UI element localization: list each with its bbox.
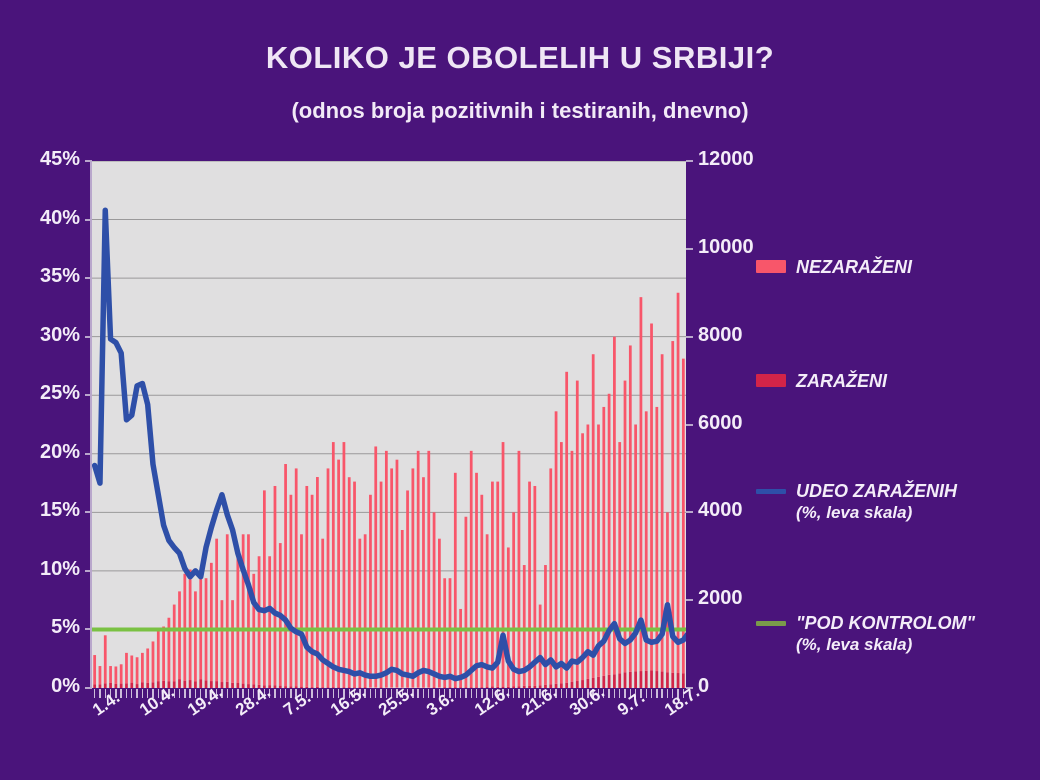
plot-svg [92,161,686,688]
bar-segment-zarazeni [141,682,144,688]
y-axis-left-tick-label: 35% [8,265,80,288]
legend-line-swatch [756,489,786,494]
bar-segment-nezarazeni [422,477,425,688]
bar-segment-nezarazeni [677,293,680,673]
bar-segment-zarazeni [279,686,282,688]
bar-segment-nezarazeni [321,539,324,688]
bar-segment-nezarazeni [125,653,128,683]
y-axis-right-tick-mark [686,599,693,601]
bar-segment-zarazeni [305,687,308,688]
bar-segment-nezarazeni [337,460,340,688]
bar-segment-nezarazeni [348,477,351,687]
bar-segment-zarazeni [343,687,346,688]
bar-segment-nezarazeni [199,572,202,680]
x-axis-tick-mark [561,689,562,698]
x-axis-tick-mark [136,689,137,698]
bar-segment-nezarazeni [332,442,335,687]
bar-segment-zarazeni [459,687,462,688]
bar-segment-nezarazeni [480,495,483,687]
bar-segment-zarazeni [629,672,632,688]
bar-segment-zarazeni [671,673,674,688]
x-axis-tick-mark [370,689,371,698]
x-axis-tick-mark [518,689,519,698]
y-axis-left-tick-label: 20% [8,441,80,464]
bar-segment-nezarazeni [274,486,277,685]
bar-segment-nezarazeni [465,517,468,688]
bar-segment-nezarazeni [327,468,330,687]
bar-segment-zarazeni [183,681,186,688]
bar-segment-nezarazeni [581,433,584,680]
y-axis-right-tick-label: 4000 [698,499,743,522]
x-axis-tick-mark [423,689,424,698]
bar-segment-zarazeni [268,685,271,688]
x-axis-tick-mark [94,689,95,698]
x-axis-tick-mark [142,689,143,698]
bar-segment-nezarazeni [221,600,224,682]
bar-segment-nezarazeni [247,534,250,684]
bar-segment-nezarazeni [93,655,96,684]
x-axis-tick-mark [428,689,429,698]
bar-segment-nezarazeni [640,297,643,671]
bar-segment-nezarazeni [528,482,531,686]
x-axis-tick-mark [656,689,657,698]
bar-segment-zarazeni [618,674,621,688]
x-axis-tick-mark [614,689,615,698]
bar-segment-nezarazeni [682,359,685,674]
bar-segment-zarazeni [533,686,536,688]
x-axis-tick-mark [184,689,185,698]
bar-segment-nezarazeni [284,464,287,686]
x-axis-tick-mark [524,689,525,698]
bar-segment-nezarazeni [443,578,446,687]
bar-segment-nezarazeni [666,512,669,672]
x-axis-tick-mark [566,689,567,698]
y-axis-right-tick-mark [686,511,693,513]
bar-segment-nezarazeni [226,534,229,682]
bar-segment-nezarazeni [109,666,112,683]
x-axis-tick-mark [322,689,323,698]
legend-bar-swatch [756,374,786,387]
bar-segment-nezarazeni [152,641,155,682]
bar-segment-nezarazeni [629,345,632,671]
bar-segment-nezarazeni [491,482,494,687]
bar-segment-nezarazeni [268,556,271,685]
x-axis-tick-mark [646,689,647,698]
bar-segment-nezarazeni [136,657,139,684]
y-axis-left-tick-label: 45% [8,148,80,171]
bar-segment-nezarazeni [454,473,457,688]
legend-item-label: UDEO ZARAŽENIH [796,481,957,502]
bar-segment-nezarazeni [518,451,521,686]
y-axis-left-tick-label: 10% [8,558,80,581]
legend-item-label: NEZARAŽENI [796,257,912,278]
bar-segment-nezarazeni [369,495,372,688]
bar-segment-nezarazeni [417,451,420,688]
bar-segment-zarazeni [337,687,340,688]
legend-item-label: "POD KONTROLOM" [796,613,975,634]
x-axis-tick-mark [179,689,180,698]
x-axis-tick-mark [232,689,233,698]
bar-segment-zarazeni [576,681,579,688]
x-axis-tick-mark [285,689,286,698]
x-axis-tick-mark [513,689,514,698]
y-axis-right-tick-mark [686,424,693,426]
bar-segment-zarazeni [528,686,531,688]
bar-segment-nezarazeni [189,569,192,680]
bar-segment-zarazeni [242,684,245,688]
bar-segment-zarazeni [221,682,224,688]
bar-segment-nezarazeni [560,442,563,683]
x-axis-tick-mark [131,689,132,698]
bar-segment-nezarazeni [475,473,478,687]
bar-segment-nezarazeni [411,468,414,687]
bar-segment-zarazeni [650,670,653,688]
x-axis-tick-mark [608,689,609,698]
bar-segment-zarazeni [146,683,149,688]
y-axis-right-tick-mark [686,336,693,338]
bar-segment-zarazeni [624,672,627,688]
y-axis-right-tick-label: 2000 [698,587,743,610]
bar-segment-zarazeni [332,687,335,688]
bar-segment-zarazeni [199,679,202,688]
bar-segment-zarazeni [114,684,117,688]
bar-segment-nezarazeni [587,425,590,679]
bar-segment-nezarazeni [555,411,558,683]
y-axis-left-tick-label: 5% [8,616,80,639]
x-axis-tick-mark [280,689,281,698]
bar-segment-nezarazeni [157,631,160,681]
x-axis-tick-mark [471,689,472,698]
bar-segment-nezarazeni [168,618,171,681]
bar-segment-nezarazeni [438,539,441,688]
plot-area [92,161,686,688]
bar-segment-nezarazeni [146,648,149,682]
bar-segment-nezarazeni [242,534,245,683]
bar-segment-zarazeni [449,687,452,688]
bar-segment-nezarazeni [385,451,388,688]
bar-segment-zarazeni [194,681,197,688]
bar-segment-nezarazeni [353,482,356,688]
bar-segment-nezarazeni [576,381,579,681]
bar-segment-zarazeni [581,680,584,688]
bar-segment-zarazeni [602,676,605,688]
bar-segment-nezarazeni [427,451,430,688]
legend: NEZARAŽENIZARAŽENIUDEO ZARAŽENIH(%, leva… [752,161,1040,688]
x-axis-tick-mark [460,689,461,698]
x-axis-tick-mark [455,689,456,698]
bar-segment-nezarazeni [300,534,303,686]
bar-segment-nezarazeni [380,482,383,688]
bar-segment-nezarazeni [231,600,234,683]
legend-line-swatch [756,621,786,626]
bar-segment-zarazeni [136,684,139,688]
legend-bar-swatch [756,260,786,273]
bar-segment-zarazeni [645,671,648,688]
legend-item-sublabel: (%, leva skala) [796,635,912,655]
bar-segment-zarazeni [518,686,521,688]
x-axis-tick-mark [333,689,334,698]
bar-segment-nezarazeni [406,490,409,687]
bar-segment-zarazeni [231,683,234,688]
bar-segment-zarazeni [480,687,483,688]
x-axis-tick-mark [619,689,620,698]
bar-segment-nezarazeni [549,468,552,684]
x-axis-tick-mark [380,689,381,698]
y-axis-right-tick-label: 12000 [698,148,754,171]
bar-segment-nezarazeni [104,635,107,683]
bar-segment-nezarazeni [130,656,133,683]
y-axis-left-tick-label: 0% [8,675,80,698]
y-axis-left-tick-label: 30% [8,324,80,347]
x-axis-tick-mark [571,689,572,698]
legend-item-label: ZARAŽENI [796,371,887,392]
bar-segment-zarazeni [682,673,685,688]
bar-segment-zarazeni [178,679,181,688]
bar-segment-zarazeni [104,683,107,688]
bar-segment-zarazeni [608,675,611,688]
bar-segment-zarazeni [173,681,176,688]
bar-segment-zarazeni [475,687,478,688]
y-axis-right-tick-label: 10000 [698,236,754,259]
bar-segment-nezarazeni [571,451,574,682]
bar-segment-zarazeni [226,682,229,688]
bar-segment-zarazeni [189,680,192,688]
bar-segment-zarazeni [677,673,680,688]
y-axis-right-tick-mark [686,248,693,250]
bar-segment-zarazeni [316,687,319,688]
bar-segment-zarazeni [284,686,287,688]
bar-segment-nezarazeni [215,539,218,681]
bar-segment-zarazeni [560,683,563,688]
bar-segment-zarazeni [311,687,314,688]
bar-segment-nezarazeni [401,530,404,688]
bar-segment-nezarazeni [433,512,436,687]
bar-segment-zarazeni [454,687,457,688]
x-axis-tick-mark [375,689,376,698]
bar-segment-nezarazeni [290,495,293,687]
bar-segment-nezarazeni [183,574,186,681]
x-axis-tick-mark [311,689,312,698]
x-axis-tick-mark [126,689,127,698]
y-axis-right-tick-label: 8000 [698,324,743,347]
bar-segment-nezarazeni [374,446,377,687]
bar-segment-zarazeni [666,672,669,688]
bar-segment-nezarazeni [236,552,239,683]
legend-item-sublabel: (%, leva skala) [796,503,912,523]
y-axis-right-tick-label: 6000 [698,412,743,435]
bar-segment-zarazeni [295,687,298,688]
bar-segment-nezarazeni [99,666,102,684]
bar-segment-zarazeni [321,687,324,688]
bar-segment-zarazeni [470,687,473,688]
x-axis-tick-mark [661,689,662,698]
page-title: KOLIKO JE OBOLELIH U SRBIJI? [0,40,1040,76]
x-axis-tick-mark [237,689,238,698]
bar-segment-nezarazeni [120,664,123,683]
y-axis-left-tick-label: 40% [8,207,80,230]
bar-segment-zarazeni [523,686,526,688]
x-axis-tick-mark [227,689,228,698]
x-axis-tick-mark [189,689,190,698]
bar-segment-zarazeni [130,683,133,688]
x-axis-tick-mark [465,689,466,698]
bar-segment-nezarazeni [390,468,393,687]
bar-segment-nezarazeni [305,486,308,687]
bar-segment-zarazeni [507,687,510,688]
bar-segment-zarazeni [99,684,102,688]
bar-segment-nezarazeni [533,486,536,686]
bar-segment-nezarazeni [512,512,515,686]
bar-segment-zarazeni [613,674,616,688]
bar-segment-nezarazeni [597,425,600,677]
bar-segment-nezarazeni [470,451,473,688]
bar-segment-zarazeni [555,684,558,688]
bar-segment-zarazeni [327,687,330,688]
bar-segment-zarazeni [465,687,468,688]
bar-segment-nezarazeni [539,605,542,686]
bar-segment-zarazeni [512,687,515,688]
y-axis-left-spine [90,161,92,688]
bar-segment-nezarazeni [210,563,213,681]
bar-segment-zarazeni [661,672,664,688]
bar-segment-zarazeni [120,684,123,688]
bar-segment-zarazeni [152,682,155,688]
bar-segment-zarazeni [274,685,277,688]
x-axis-tick-mark [317,689,318,698]
y-axis-right-tick-mark [686,160,693,162]
bar-segment-zarazeni [565,683,568,688]
bar-segment-zarazeni [486,687,489,688]
bar-segment-zarazeni [236,683,239,688]
bar-segment-nezarazeni [173,605,176,682]
bar-segment-zarazeni [93,684,96,688]
bar-segment-zarazeni [125,683,128,688]
bar-segment-zarazeni [640,671,643,688]
bar-segment-nezarazeni [565,372,568,683]
y-axis-left-tick-label: 15% [8,499,80,522]
x-axis-tick-mark [120,689,121,698]
x-axis-tick-mark [327,689,328,698]
bar-segment-zarazeni [634,671,637,688]
bar-segment-zarazeni [655,671,658,688]
bar-segment-nezarazeni [343,442,346,687]
x-axis-tick-mark [417,689,418,698]
x-axis-tick-mark [651,689,652,698]
bar-segment-nezarazeni [141,653,144,682]
bar-segment-nezarazeni [396,460,399,688]
bar-segment-nezarazeni [162,627,165,681]
bar-segment-nezarazeni [194,591,197,681]
bar-segment-nezarazeni [311,495,314,687]
bar-segment-nezarazeni [258,556,261,685]
bar-segment-nezarazeni [358,539,361,688]
bar-segment-zarazeni [290,686,293,688]
bar-segment-nezarazeni [263,490,266,685]
x-axis-tick-mark [274,689,275,698]
chart-subtitle: (odnos broja pozitivnih i testiranih, dn… [0,98,1040,124]
bar-segment-nezarazeni [114,666,117,683]
x-axis-tick-mark [667,689,668,698]
x-axis-tick-mark [476,689,477,698]
bar-segment-nezarazeni [364,534,367,687]
bar-segment-nezarazeni [295,468,298,686]
bar-segment-nezarazeni [178,591,181,679]
bar-segment-nezarazeni [449,578,452,687]
bar-segment-zarazeni [571,682,574,688]
bar-segment-zarazeni [247,684,250,688]
y-axis-left-tick-label: 25% [8,382,80,405]
bar-segment-nezarazeni [650,323,653,670]
chart-canvas: KOLIKO JE OBOLELIH U SRBIJI? (odnos broj… [0,0,1040,780]
